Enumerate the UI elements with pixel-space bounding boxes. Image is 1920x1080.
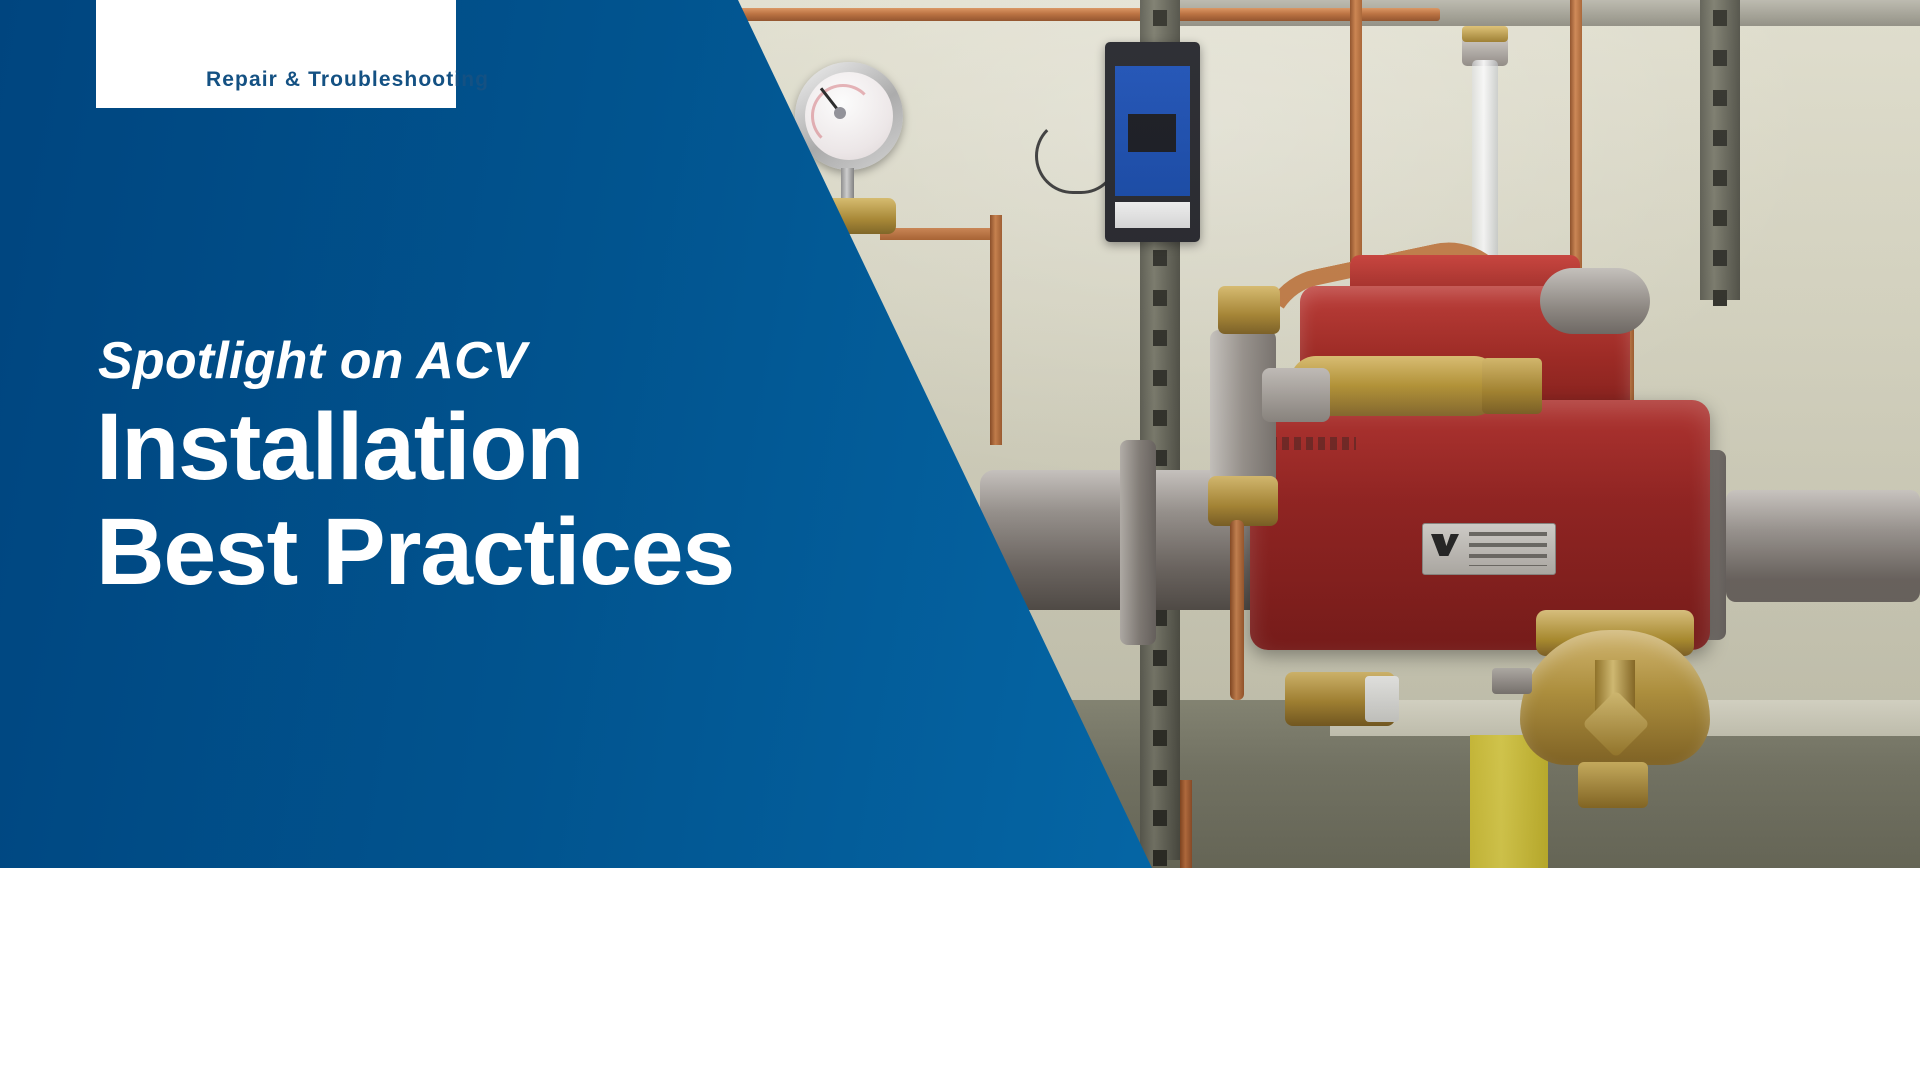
page-title-line1: Installation bbox=[96, 400, 583, 495]
category-badge-label: Repair & Troubleshooting bbox=[206, 68, 489, 92]
slide-root: Repair & Troubleshooting Spotlight on AC… bbox=[0, 0, 1920, 1080]
footer-bar: WATTS ® AMES bbox=[0, 868, 1920, 1080]
page-title-line2: Best Practices bbox=[96, 505, 734, 600]
category-badge: Repair & Troubleshooting bbox=[96, 0, 456, 108]
hero-banner: Repair & Troubleshooting Spotlight on AC… bbox=[0, 0, 1920, 868]
kicker-text: Spotlight on ACV bbox=[98, 331, 527, 391]
